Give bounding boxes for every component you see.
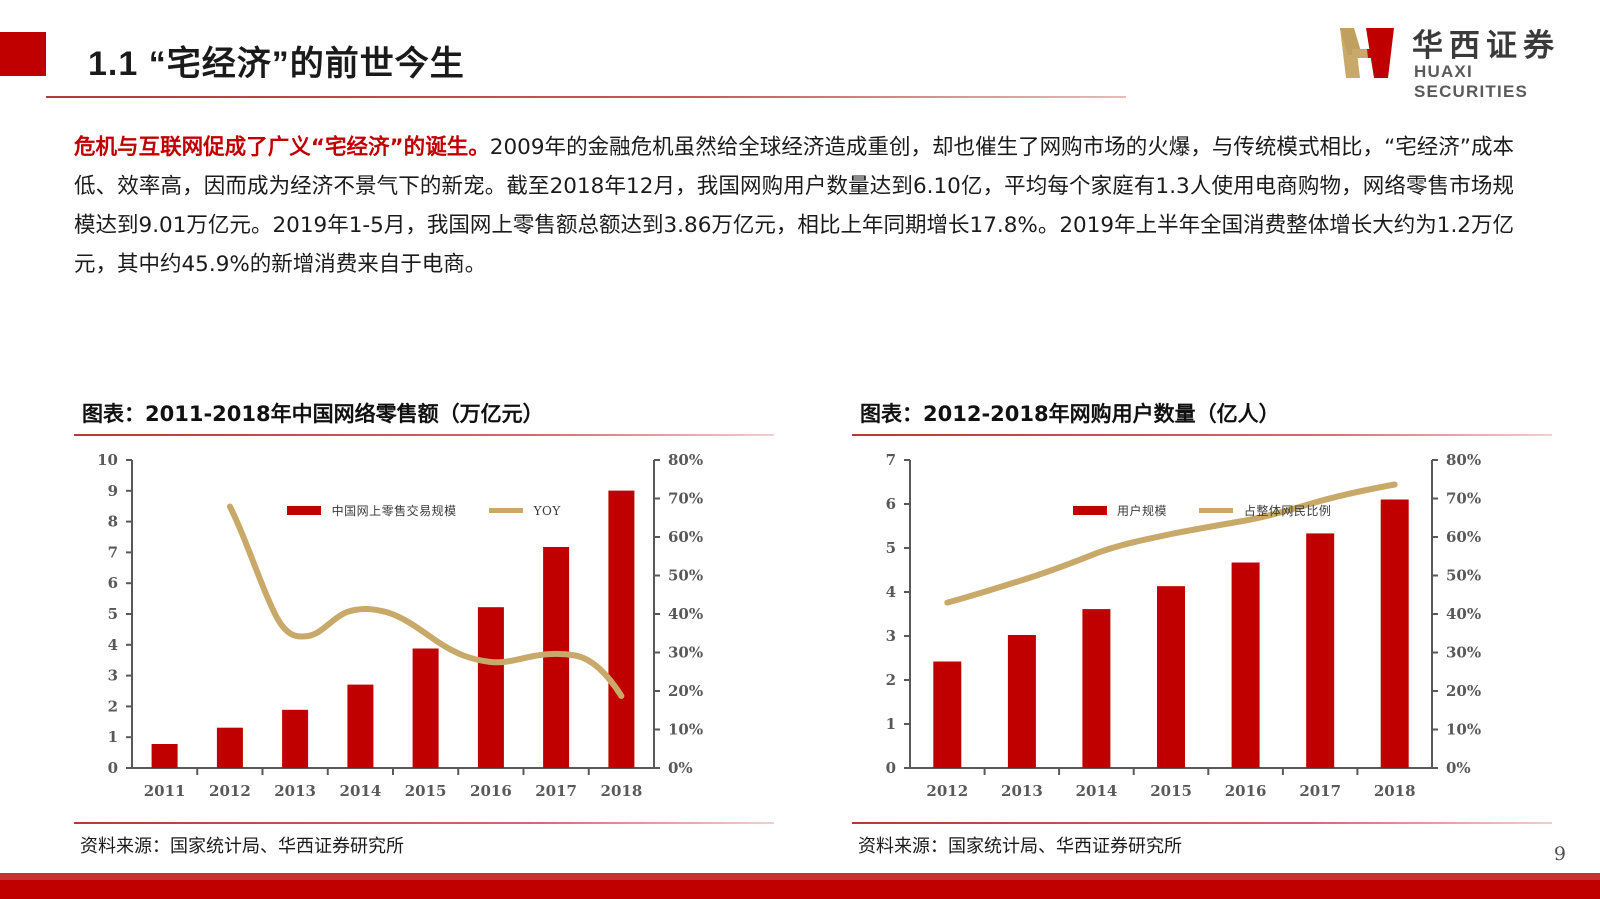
svg-text:2013: 2013 [274, 782, 316, 800]
chart-panel-left: 图表：2011-2018年中国网络零售额（万亿元） 012 [74, 398, 774, 868]
svg-text:3: 3 [108, 667, 118, 685]
y-axis-right-ticks: 0%10%20% 30%40%50% 60%70%80% [668, 451, 703, 777]
chart-right: 012 345 67 0%10%20% 30%40%50% 60%70%80% [852, 446, 1552, 818]
page-number: 9 [1554, 843, 1566, 865]
svg-text:70%: 70% [668, 490, 703, 508]
page-title: 1.1 “宅经济”的前世今生 [88, 36, 465, 85]
slide: 1.1 “宅经济”的前世今生 华西证券 HUAXI SECURITIES 危机与… [0, 0, 1600, 899]
svg-text:2013: 2013 [1001, 782, 1043, 800]
huaxi-h-mark-icon [1336, 22, 1398, 84]
svg-text:50%: 50% [1446, 567, 1481, 585]
svg-text:7: 7 [886, 451, 896, 469]
svg-text:4: 4 [886, 583, 896, 601]
svg-text:10%: 10% [1446, 721, 1481, 739]
svg-text:5: 5 [108, 605, 118, 623]
svg-text:2: 2 [108, 697, 118, 715]
svg-text:9: 9 [108, 482, 118, 500]
svg-text:2017: 2017 [535, 782, 577, 800]
chart-title-divider-right [852, 434, 1552, 436]
svg-text:8: 8 [108, 513, 118, 531]
svg-text:6: 6 [108, 574, 118, 592]
chart-title-right: 图表：2012-2018年网购用户数量（亿人） [860, 398, 1280, 428]
svg-text:60%: 60% [668, 528, 703, 546]
logo-chinese-name: 华西证券 [1412, 20, 1560, 65]
chart-source-right: 资料来源：国家统计局、华西证券研究所 [858, 832, 1182, 858]
svg-text:2014: 2014 [340, 782, 382, 800]
chart-panel-right: 图表：2012-2018年网购用户数量（亿人） 012 345 67 [852, 398, 1552, 868]
svg-text:20%: 20% [668, 682, 703, 700]
svg-text:80%: 80% [668, 451, 703, 469]
bar-series-left [152, 491, 635, 768]
footer-bar [0, 873, 1600, 899]
svg-text:2018: 2018 [1374, 782, 1416, 800]
svg-text:2012: 2012 [926, 782, 968, 800]
svg-text:40%: 40% [668, 605, 703, 623]
svg-text:2016: 2016 [1225, 782, 1267, 800]
y-axis-right-ticks-right-chart: 0%10%20% 30%40%50% 60%70%80% [1446, 451, 1481, 777]
body-paragraph: 危机与互联网促成了广义“宅经济”的诞生。2009年的金融危机虽然给全球经济造成重… [74, 128, 1514, 284]
svg-text:5: 5 [886, 539, 896, 557]
svg-text:2: 2 [886, 671, 896, 689]
svg-text:6: 6 [886, 495, 896, 513]
bar-series-right [933, 500, 1408, 769]
svg-text:2011: 2011 [144, 782, 186, 800]
header-divider [46, 96, 1126, 98]
svg-text:2017: 2017 [1299, 782, 1341, 800]
chart-left-svg: 012 345 678 910 0%10%20% 30%40%50% 60%7 [74, 446, 774, 818]
svg-text:50%: 50% [668, 567, 703, 585]
chart-source-left: 资料来源：国家统计局、华西证券研究所 [80, 832, 404, 858]
svg-text:0: 0 [886, 759, 896, 777]
svg-text:1: 1 [886, 715, 896, 733]
svg-text:80%: 80% [1446, 451, 1481, 469]
svg-text:2016: 2016 [470, 782, 512, 800]
svg-text:2012: 2012 [209, 782, 251, 800]
svg-text:10: 10 [97, 451, 118, 469]
chart-source-divider-left [74, 822, 774, 824]
chart-title-divider-left [74, 434, 774, 436]
svg-text:70%: 70% [1446, 490, 1481, 508]
svg-text:0%: 0% [1446, 759, 1471, 777]
company-logo: 华西证券 HUAXI SECURITIES [1326, 18, 1578, 88]
chart-left: 012 345 678 910 0%10%20% 30%40%50% 60%7 [74, 446, 774, 818]
svg-text:7: 7 [108, 543, 118, 561]
svg-text:60%: 60% [1446, 528, 1481, 546]
chart-title-left: 图表：2011-2018年中国网络零售额（万亿元） [82, 398, 544, 428]
svg-text:10%: 10% [668, 721, 703, 739]
svg-text:1: 1 [108, 728, 118, 746]
x-axis-labels-left: 20112012 20132014 20152016 20172018 [144, 782, 643, 800]
svg-text:20%: 20% [1446, 682, 1481, 700]
paragraph-lead: 危机与互联网促成了广义“宅经济”的诞生。 [74, 135, 490, 160]
svg-text:0%: 0% [668, 759, 693, 777]
svg-text:30%: 30% [668, 644, 703, 662]
chart-source-divider-right [852, 822, 1552, 824]
svg-text:2014: 2014 [1076, 782, 1118, 800]
x-axis-labels-right: 20122013 20142015 20162017 2018 [926, 782, 1415, 800]
y-axis-left-ticks-right-chart: 012 345 67 [886, 451, 896, 777]
header-accent-block [0, 32, 46, 76]
logo-english-name: HUAXI SECURITIES [1414, 62, 1578, 102]
svg-text:40%: 40% [1446, 605, 1481, 623]
svg-text:2015: 2015 [405, 782, 447, 800]
svg-text:2018: 2018 [601, 782, 643, 800]
chart-right-svg: 012 345 67 0%10%20% 30%40%50% 60%70%80% [852, 446, 1552, 818]
svg-text:30%: 30% [1446, 644, 1481, 662]
svg-text:3: 3 [886, 627, 896, 645]
y-axis-left-ticks: 012 345 678 910 [97, 451, 118, 777]
svg-text:4: 4 [108, 636, 118, 654]
svg-text:2015: 2015 [1150, 782, 1192, 800]
svg-text:0: 0 [108, 759, 118, 777]
